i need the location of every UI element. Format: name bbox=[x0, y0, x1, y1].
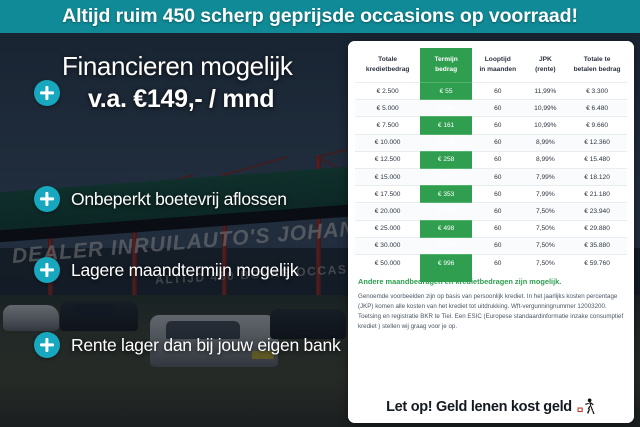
feature-bullet-1: Onbeperkt boetevrij aflossen bbox=[34, 186, 287, 212]
plus-circle-icon bbox=[34, 257, 60, 283]
header-title: Altijd ruim 450 scherp geprijsde occasio… bbox=[62, 5, 578, 28]
table-cell: € 15.480 bbox=[567, 151, 627, 168]
header-line1: JPK bbox=[539, 56, 552, 63]
table-cell: € 161 bbox=[420, 117, 472, 134]
feature-bullet-label: Lagere maandtermijn mogelijk bbox=[71, 260, 298, 281]
table-cell: € 6.480 bbox=[567, 100, 627, 117]
table-cell: 7,50% bbox=[524, 237, 568, 254]
financing-table-card: Totale kredietbedrag Termijn bedrag Loop… bbox=[348, 41, 634, 423]
column-header-jpk: JPK (rente) bbox=[524, 48, 568, 83]
header-line1: Termijn bbox=[434, 56, 457, 63]
table-cell: 10,99% bbox=[524, 100, 568, 117]
table-row: € 30.000€ 598607,50%€ 35.880 bbox=[355, 237, 627, 254]
table-cell: 7,50% bbox=[524, 220, 568, 237]
header-line2: kredietbedrag bbox=[366, 66, 410, 73]
credit-warning-bar: Let op! Geld lenen kost geld bbox=[348, 392, 634, 423]
headline-line2: v.a. €149,- / mnd bbox=[62, 85, 342, 114]
table-cell: € 23.940 bbox=[567, 203, 627, 220]
table-cell: 60 bbox=[472, 169, 524, 186]
header-line2: betalen bedrag bbox=[574, 66, 621, 73]
header-line1: Totale bbox=[378, 56, 397, 63]
disclaimer-body: Genoemde voorbeelden zijn op basis van p… bbox=[358, 292, 624, 332]
table-cell: € 258 bbox=[420, 151, 472, 168]
table-wrapper: Totale kredietbedrag Termijn bedrag Loop… bbox=[348, 41, 634, 271]
header-line1: Totale te bbox=[584, 56, 611, 63]
table-cell: 10,99% bbox=[524, 117, 568, 134]
table-row: € 7.500€ 1616010,99%€ 9.660 bbox=[355, 117, 627, 134]
header-line2: bedrag bbox=[435, 66, 457, 73]
table-row: € 15.000€ 302607,99%€ 18.120 bbox=[355, 169, 627, 186]
table-cell: € 12.500 bbox=[355, 151, 420, 168]
table-cell: € 25.000 bbox=[355, 220, 420, 237]
table-cell: € 20.000 bbox=[355, 203, 420, 220]
table-cell: € 18.120 bbox=[567, 169, 627, 186]
table-cell: 60 bbox=[472, 83, 524, 100]
feature-bullet-2: Lagere maandtermijn mogelijk bbox=[34, 257, 298, 283]
table-cell: 60 bbox=[472, 220, 524, 237]
table-cell: € 30.000 bbox=[355, 237, 420, 254]
table-cell: 60 bbox=[472, 117, 524, 134]
table-cell: 7,99% bbox=[524, 169, 568, 186]
headline-line1: Financieren mogelijk bbox=[62, 52, 342, 81]
table-cell: € 498 bbox=[420, 220, 472, 237]
table-cell: € 35.880 bbox=[567, 237, 627, 254]
table-cell: 8,99% bbox=[524, 151, 568, 168]
table-cell: 11,99% bbox=[524, 83, 568, 100]
table-cell: 60 bbox=[472, 254, 524, 271]
table-cell: 60 bbox=[472, 203, 524, 220]
highlight-column-tail bbox=[420, 271, 472, 282]
table-cell: € 12.360 bbox=[567, 134, 627, 151]
header-line2: (rente) bbox=[535, 66, 556, 73]
header-line2: in maanden bbox=[479, 66, 516, 73]
table-cell: € 598 bbox=[420, 237, 472, 254]
table-cell: € 50.000 bbox=[355, 254, 420, 271]
plus-circle-icon bbox=[34, 186, 60, 212]
header-banner: Altijd ruim 450 scherp geprijsde occasio… bbox=[0, 0, 640, 33]
table-cell: 7,50% bbox=[524, 254, 568, 271]
table-cell: € 108 bbox=[420, 100, 472, 117]
table-cell: € 59.760 bbox=[567, 254, 627, 271]
disclaimer-heading: Andere maandbedragen en kredietbedragen … bbox=[358, 277, 624, 287]
table-row: € 20.000€ 399607,50%€ 23.940 bbox=[355, 203, 627, 220]
column-header-termijn-bedrag: Termijn bedrag bbox=[420, 48, 472, 83]
table-cell: 60 bbox=[472, 237, 524, 254]
table-cell: € 55 bbox=[420, 83, 472, 100]
table-cell: 7,50% bbox=[524, 203, 568, 220]
column-header-totale-kredietbedrag: Totale kredietbedrag bbox=[355, 48, 420, 83]
table-cell: € 3.300 bbox=[567, 83, 627, 100]
table-row: € 12.500€ 258608,99%€ 15.480 bbox=[355, 151, 627, 168]
table-cell: € 29.880 bbox=[567, 220, 627, 237]
table-cell: € 2.500 bbox=[355, 83, 420, 100]
table-cell: € 353 bbox=[420, 186, 472, 203]
table-cell: 8,99% bbox=[524, 134, 568, 151]
table-cell: 7,99% bbox=[524, 186, 568, 203]
table-row: € 17.500€ 353607,99%€ 21.180 bbox=[355, 186, 627, 203]
feature-bullet-label: Rente lager dan bij jouw eigen bank bbox=[71, 335, 341, 356]
table-cell: € 10.000 bbox=[355, 134, 420, 151]
table-row: € 50.000€ 996607,50%€ 59.760 bbox=[355, 254, 627, 271]
feature-bullet-3: Rente lager dan bij jouw eigen bank bbox=[34, 332, 341, 358]
column-header-totale-te-betalen: Totale te betalen bedrag bbox=[567, 48, 627, 83]
plus-circle-icon bbox=[34, 332, 60, 358]
table-cell: 60 bbox=[472, 151, 524, 168]
table-cell: € 17.500 bbox=[355, 186, 420, 203]
table-cell: € 9.660 bbox=[567, 117, 627, 134]
table-cell: € 7.500 bbox=[355, 117, 420, 134]
disclaimer-section: Andere maandbedragen en kredietbedragen … bbox=[348, 271, 634, 392]
table-cell: 60 bbox=[472, 186, 524, 203]
table-cell: € 15.000 bbox=[355, 169, 420, 186]
table-body: € 2.500€ 556011,99%€ 3.300€ 5.000€ 10860… bbox=[355, 83, 627, 272]
table-cell: € 206 bbox=[420, 134, 472, 151]
table-cell: € 21.180 bbox=[567, 186, 627, 203]
table-cell: € 302 bbox=[420, 169, 472, 186]
header-line1: Looptijd bbox=[485, 56, 511, 63]
table-row: € 5.000€ 1086010,99%€ 6.480 bbox=[355, 100, 627, 117]
table-header-row: Totale kredietbedrag Termijn bedrag Loop… bbox=[355, 48, 627, 83]
features-column: Financieren mogelijk v.a. €149,- / mnd O… bbox=[0, 33, 345, 427]
financing-table: Totale kredietbedrag Termijn bedrag Loop… bbox=[355, 48, 627, 271]
table-cell: 60 bbox=[472, 100, 524, 117]
feature-bullet-label: Onbeperkt boetevrij aflossen bbox=[71, 189, 287, 210]
column-header-looptijd: Looptijd in maanden bbox=[472, 48, 524, 83]
table-row: € 2.500€ 556011,99%€ 3.300 bbox=[355, 83, 627, 100]
table-cell: € 5.000 bbox=[355, 100, 420, 117]
credit-warning-text: Let op! Geld lenen kost geld bbox=[386, 399, 572, 415]
plus-circle-icon bbox=[34, 80, 60, 106]
table-cell: € 996 bbox=[420, 254, 472, 271]
table-cell: 60 bbox=[472, 134, 524, 151]
headline-block: Financieren mogelijk v.a. €149,- / mnd bbox=[62, 52, 342, 114]
table-cell: € 399 bbox=[420, 203, 472, 220]
running-man-ball-icon bbox=[577, 398, 596, 415]
table-row: € 25.000€ 498607,50%€ 29.880 bbox=[355, 220, 627, 237]
table-row: € 10.000€ 206608,99%€ 12.360 bbox=[355, 134, 627, 151]
